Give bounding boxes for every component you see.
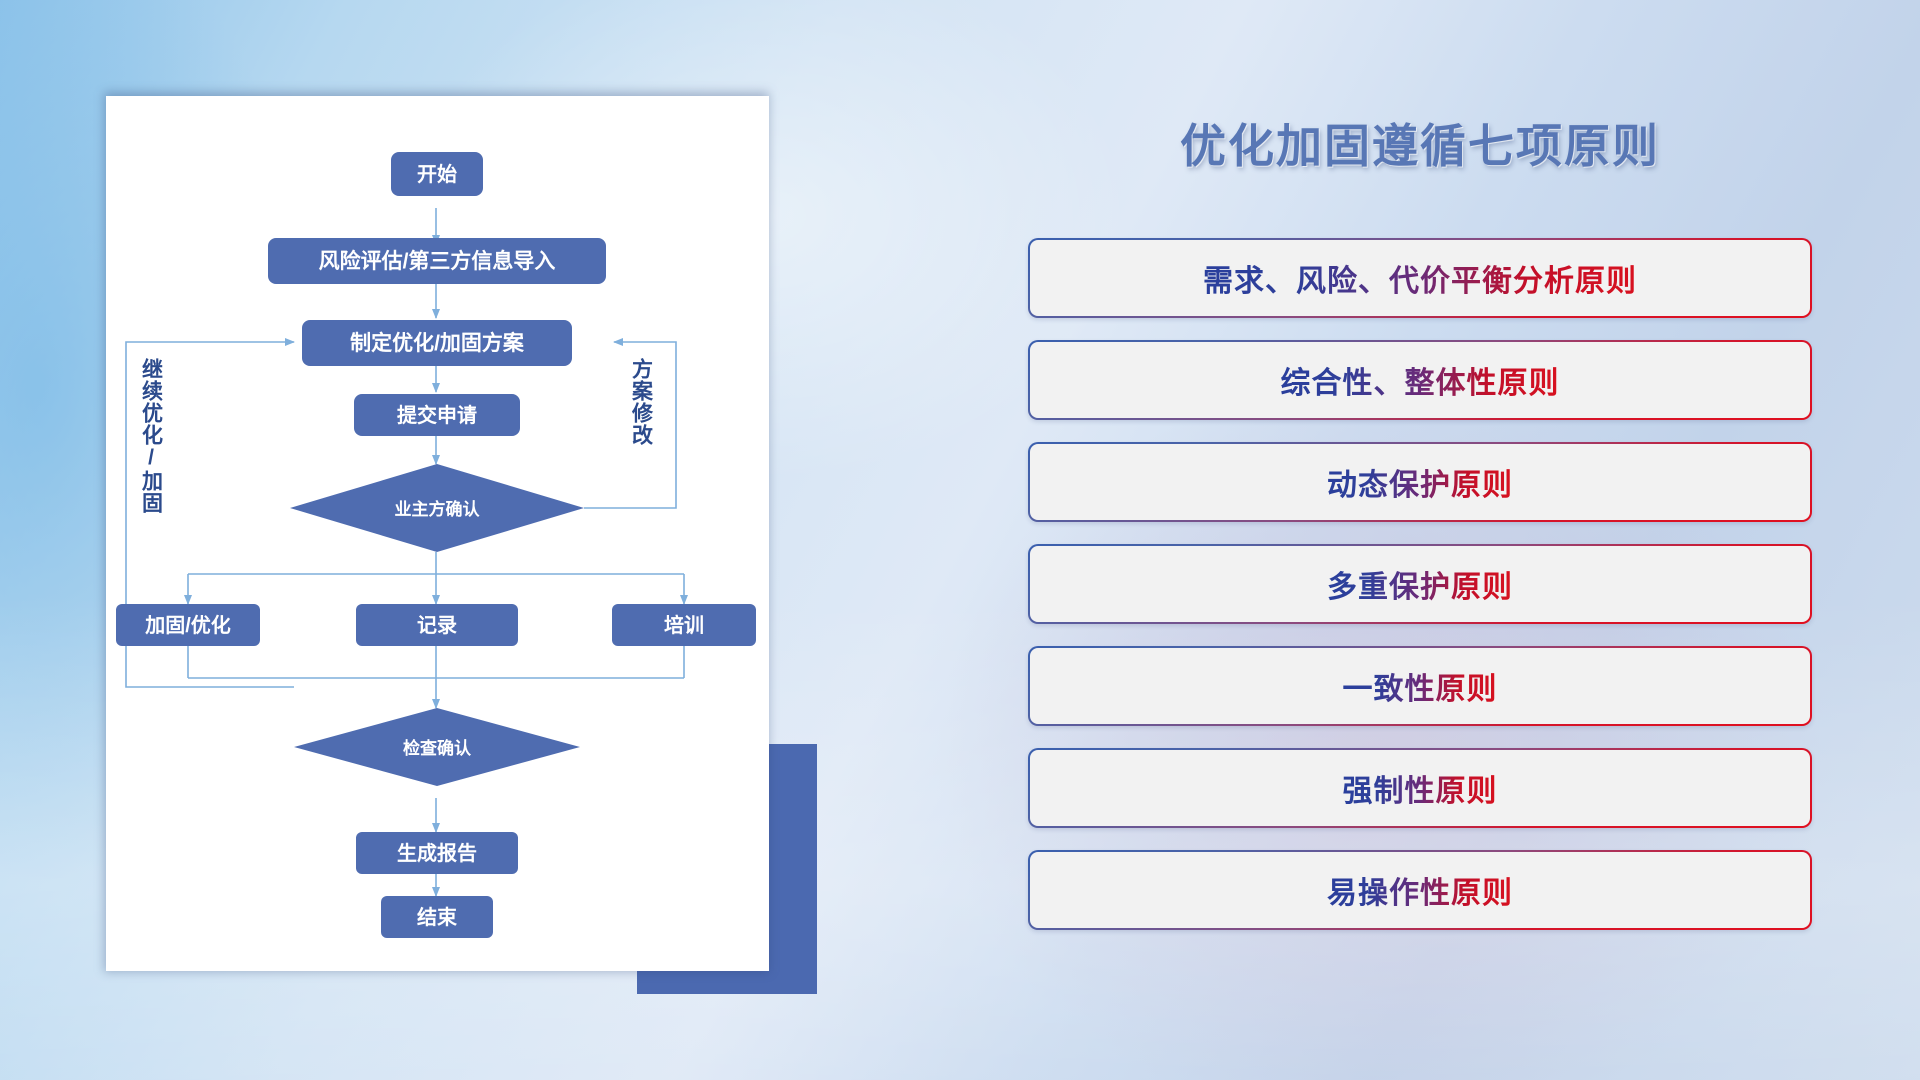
node-start[interactable]: 开始 [391, 152, 483, 196]
principles-list: 需求、风险、代价平衡分析原则 综合性、整体性原则 动态保护原则 多重保护原则 一… [1028, 238, 1812, 952]
side-label-continue-optimize: 继续优化/加固 [140, 357, 165, 514]
principles-panel: 优化加固遵循七项原则 需求、风险、代价平衡分析原则 综合性、整体性原则 动态保护… [1020, 80, 1820, 1040]
node-training[interactable]: 培训 [612, 604, 756, 646]
node-check-confirm[interactable]: 检查确认 [294, 708, 580, 786]
node-generate-report[interactable]: 生成报告 [356, 832, 518, 874]
node-generate-report-label: 生成报告 [397, 841, 477, 865]
node-risk-assessment[interactable]: 风险评估/第三方信息导入 [268, 238, 606, 284]
side-label-plan-revision: 方案修改 [630, 357, 655, 446]
principle-card-label: 强制性原则 [1343, 766, 1498, 810]
principle-card-1[interactable]: 需求、风险、代价平衡分析原则 [1028, 238, 1812, 318]
node-make-plan-label: 制定优化/加固方案 [350, 331, 525, 355]
principle-card-label: 一致性原则 [1343, 664, 1498, 708]
principle-card-label: 需求、风险、代价平衡分析原则 [1203, 256, 1637, 300]
flowchart-diagram: 开始 风险评估/第三方信息导入 制定优化/加固方案 提交申请 业主方确认 加固/… [106, 96, 769, 971]
node-risk-assessment-label: 风险评估/第三方信息导入 [319, 249, 556, 273]
node-make-plan[interactable]: 制定优化/加固方案 [302, 320, 572, 366]
principle-card-4[interactable]: 多重保护原则 [1028, 544, 1812, 624]
node-owner-confirm-label: 业主方确认 [395, 499, 481, 519]
flowchart-connectors [126, 208, 684, 896]
principle-card-5[interactable]: 一致性原则 [1028, 646, 1812, 726]
flowchart-panel: 开始 风险评估/第三方信息导入 制定优化/加固方案 提交申请 业主方确认 加固/… [106, 96, 769, 971]
principles-title: 优化加固遵循七项原则 [1020, 110, 1820, 176]
principle-card-6[interactable]: 强制性原则 [1028, 748, 1812, 828]
node-training-label: 培训 [664, 613, 704, 637]
node-record[interactable]: 记录 [356, 604, 518, 646]
principle-card-7[interactable]: 易操作性原则 [1028, 850, 1812, 930]
node-start-label: 开始 [417, 162, 457, 186]
node-check-confirm-label: 检查确认 [403, 738, 472, 758]
node-reinforce-optimize-label: 加固/优化 [144, 613, 231, 637]
node-reinforce-optimize[interactable]: 加固/优化 [116, 604, 260, 646]
node-owner-confirm[interactable]: 业主方确认 [290, 464, 584, 552]
node-submit-application-label: 提交申请 [397, 403, 477, 427]
principle-card-label: 多重保护原则 [1327, 562, 1513, 606]
node-end-label: 结束 [417, 905, 458, 929]
node-submit-application[interactable]: 提交申请 [354, 394, 520, 436]
principle-card-2[interactable]: 综合性、整体性原则 [1028, 340, 1812, 420]
principle-card-label: 综合性、整体性原则 [1281, 358, 1560, 402]
principle-card-label: 易操作性原则 [1327, 868, 1513, 912]
node-record-label: 记录 [417, 614, 457, 637]
principle-card-3[interactable]: 动态保护原则 [1028, 442, 1812, 522]
node-end[interactable]: 结束 [381, 896, 493, 938]
principle-card-label: 动态保护原则 [1327, 460, 1513, 504]
